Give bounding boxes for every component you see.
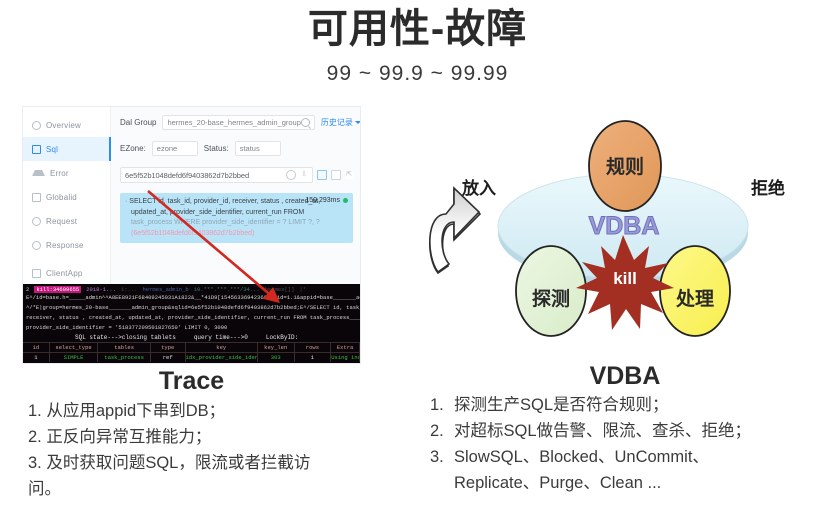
sidebar-item-label: Response [46, 241, 84, 250]
terminal-header-row: 2 kill:34609655 2018-1... 1:... hermes_a… [23, 284, 360, 293]
info-icon[interactable] [286, 170, 296, 180]
terminal-ip: 10.***.***.***/34... [194, 286, 260, 293]
right-bullets: 1. 探测生产SQL是否符合规则； 2. 对超标SQL做告警、限流、查杀、拒绝；… [430, 392, 828, 496]
trace-screenshot: Overview Sql Error Globalid Request Resp… [22, 106, 361, 364]
list-item: 2. 正反向异常互推能力； [28, 424, 378, 450]
list-item: 1. 探测生产SQL是否符合规则； [430, 392, 828, 418]
sql-duration: 150.293ms [305, 197, 348, 204]
rule-node-label: 规则 [606, 155, 644, 178]
dal-group-row: Dal Group hermes_20-base_hermes_admin_gr… [120, 115, 353, 130]
list-item: 问。 [28, 476, 378, 502]
list-item: 3. SlowSQL、Blocked、UnCommit、 [430, 444, 828, 470]
ezone-placeholder: ezone [157, 144, 177, 153]
trace-id-input[interactable]: 6e5f52b1048defd6f9403862d7b2bbed ⇩ [120, 167, 313, 183]
status-placeholder: status [240, 144, 260, 153]
sidebar-item-overview[interactable]: Overview [23, 113, 110, 137]
trace-app-window: Overview Sql Error Globalid Request Resp… [23, 107, 360, 284]
left-bullets: 1. 从应用appid下串到DB； 2. 正反向异常互推能力； 3. 及时获取问… [28, 398, 378, 502]
explain-table-row: 1 SIMPLE task_process ref idx_provider_s… [23, 353, 360, 362]
list-item-text: 对超标SQL做告警、限流、查杀、拒绝； [454, 418, 751, 444]
list-item: 3. 及时获取问题SQL，限流或者拦截访 [28, 450, 378, 476]
kill-label: kill [613, 269, 637, 288]
save-icon[interactable] [331, 170, 341, 180]
page-subtitle: 99 ~ 99.9 ~ 99.99 [0, 62, 835, 86]
terminal-line-number: 2 [26, 286, 29, 293]
list-item-text: Replicate、Purge、Clean ... [454, 470, 661, 496]
app-icon [32, 269, 41, 278]
dal-group-input[interactable]: hermes_20-base_hermes_admin_group [162, 115, 314, 130]
terminal-time: 1:... [121, 286, 138, 293]
ezone-input[interactable]: ezone [152, 141, 198, 156]
sidebar-item-sql[interactable]: Sql [23, 137, 110, 161]
sidebar-item-label: Sql [46, 145, 58, 154]
copy-icon[interactable] [317, 170, 327, 180]
terminal-misc: |* [299, 286, 306, 293]
comment-icon [32, 241, 41, 250]
sidebar-item-clientapp[interactable]: ClientApp [23, 261, 110, 285]
list-item: 1. 从应用appid下串到DB； [28, 398, 378, 424]
list-item-text: SlowSQL、Blocked、UnCommit、 [454, 444, 709, 470]
ezone-status-row: EZone: ezone Status: status [120, 141, 353, 156]
list-item-number [430, 470, 444, 496]
terminal-body-line-3: receiver, status , created_at, updated_a… [23, 313, 360, 323]
sidebar-item-globalid[interactable]: Globalid [23, 185, 110, 209]
sql-line-4: (6e5f52b1048defd6f9403862d7b2bbed) [125, 229, 348, 240]
terminal-source: hermes[]] [265, 286, 295, 293]
sql-state-label: SQL state--->closing tablets [75, 334, 176, 341]
trace-id-value: 6e5f52b1048defd6f9403862d7b2bbed [125, 171, 249, 180]
sidebar-item-error[interactable]: Error [23, 161, 110, 185]
sql-line-3: task_process WHERE provider_side_identif… [125, 218, 348, 229]
trace-search-panel: Dal Group hermes_20-base_hermes_admin_gr… [111, 107, 360, 284]
arrow-in-label: 放入 [461, 178, 496, 198]
trace-sidebar[interactable]: Overview Sql Error Globalid Request Resp… [23, 107, 111, 284]
sidebar-item-response[interactable]: Response [23, 233, 110, 257]
list-item-number: 3. [430, 444, 444, 470]
chevron-down-icon [355, 121, 361, 124]
terminal-body-line-2: ^/*E|group=hermes_20-base_______admin_gr… [23, 303, 360, 313]
list-icon [32, 193, 41, 202]
lockby-label: LockByID: [266, 334, 298, 341]
sidebar-item-label: Overview [46, 121, 81, 130]
page-title: 可用性-故障 [0, 4, 835, 54]
magnifier-icon[interactable] [301, 118, 310, 127]
history-link[interactable]: 历史记录 [321, 117, 361, 128]
arrow-out-icon [430, 188, 479, 272]
terminal-log: 2 kill:34609655 2018-1... 1:... hermes_a… [23, 284, 360, 364]
share-icon[interactable]: ⇱ [345, 171, 353, 179]
sql-duration-label: 150.293ms [305, 197, 340, 204]
explain-table-header: id select_type tables type key key_len r… [23, 342, 360, 353]
terminal-date: 2018-1... [86, 286, 116, 293]
list-item-text: 探测生产SQL是否符合规则； [454, 392, 669, 418]
trace-id-row: 6e5f52b1048defd6f9403862d7b2bbed ⇩ ⇱ [120, 167, 353, 183]
download-icon[interactable]: ⇩ [300, 171, 308, 179]
sidebar-item-request[interactable]: Request [23, 209, 110, 233]
circle-icon [32, 217, 41, 226]
sidebar-item-label: Error [50, 169, 69, 178]
status-input[interactable]: status [235, 141, 281, 156]
ezone-label: EZone: [120, 144, 146, 153]
left-caption: Trace [22, 367, 361, 396]
status-label: Status: [204, 144, 229, 153]
warning-triangle-icon [32, 170, 45, 176]
terminal-body-line-1: E^/id=base.h=_____admin^^A8EE8921F684092… [23, 293, 360, 303]
dal-group-value: hermes_20-base_hermes_admin_group [167, 118, 300, 127]
list-item: 2. 对超标SQL做告警、限流、查杀、拒绝； [430, 418, 828, 444]
vdba-diagram: 放入 拒绝 规则 探测 处理 VDBA kill [418, 108, 835, 360]
sidebar-item-label: ClientApp [46, 269, 83, 278]
terminal-app: hermes_admin_b [142, 286, 188, 293]
list-item-number: 2. [430, 418, 444, 444]
list-item: Replicate、Purge、Clean ... [430, 470, 828, 496]
clock-icon [32, 121, 41, 130]
history-link-label: 历史记录 [321, 117, 353, 128]
arrow-out-label: 拒绝 [751, 178, 785, 198]
terminal-status-line: SQL state--->closing tablets query time-… [23, 333, 360, 342]
detect-node-label: 探测 [532, 288, 570, 310]
platform-label: VDBA [589, 212, 660, 240]
dal-group-label: Dal Group [120, 118, 156, 127]
terminal-kill-tag: kill:34609655 [34, 286, 81, 293]
handle-node-label: 处理 [675, 287, 714, 310]
sql-result-card[interactable]: 150.293ms · SELECT id, task_id, provider… [120, 193, 353, 243]
database-icon [32, 145, 41, 154]
query-time-label: query time--->0 [194, 334, 248, 341]
list-item-number: 1. [430, 392, 444, 418]
sidebar-item-label: Request [46, 217, 77, 226]
right-caption: VDBA [430, 362, 820, 391]
sql-line-2: updated_at, provider_side_identifier, cu… [125, 208, 348, 219]
status-dot-icon [343, 198, 348, 203]
terminal-body-line-4: provider_side_identifier = '518377209501… [23, 323, 360, 333]
sidebar-item-label: Globalid [46, 193, 77, 202]
